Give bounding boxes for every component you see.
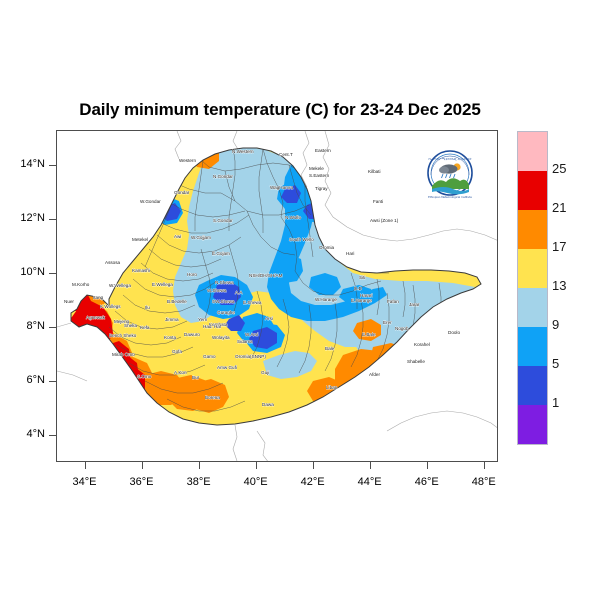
zone-label: Gamo xyxy=(203,354,216,359)
zone-label: Fanti xyxy=(373,199,383,204)
colorbar-tick-label: 25 xyxy=(552,161,566,176)
zone-label: W.Gojjam xyxy=(191,235,211,240)
zone-label: E.Gojam xyxy=(212,251,230,256)
colorbar-band xyxy=(518,210,547,249)
y-tick-label: 12°N xyxy=(1,212,45,224)
x-tick-label: 36°E xyxy=(119,476,165,488)
zone-label: WagHamra xyxy=(270,185,294,190)
y-tick-label: 4°N xyxy=(1,428,45,440)
zone-label: Konta xyxy=(164,335,176,340)
zone-label: Cent.T xyxy=(279,152,293,157)
zone-label: B.Bedelle xyxy=(167,299,187,304)
zone-label: Kilbati xyxy=(368,169,381,174)
zone-label: N.Gondar xyxy=(213,174,233,179)
zone-label: Doolo xyxy=(448,330,460,335)
zone-label: S.Omo xyxy=(137,374,152,379)
zone-label: Erer xyxy=(383,320,392,325)
zone-label: Yem xyxy=(198,317,207,322)
zone-label: A.A xyxy=(235,290,243,295)
zone-label: Korahel xyxy=(414,342,430,347)
zone-label: SW.Shewa xyxy=(212,299,235,304)
zone-label: Harari xyxy=(360,293,373,298)
colorbar-band xyxy=(518,171,547,210)
colorbar-tick-label: 13 xyxy=(552,278,566,293)
zone-label: W.Hararge xyxy=(315,297,337,302)
colorbar-band xyxy=(518,249,547,288)
zone-label: Oromia xyxy=(319,245,335,250)
zone-label: Agnewak xyxy=(86,315,106,320)
zone-label: Metekel xyxy=(132,237,148,242)
zone-label: Horo xyxy=(187,272,197,277)
zone-label: N.Wollo xyxy=(285,215,301,220)
y-tick-label: 14°N xyxy=(1,158,45,170)
x-tick-label: 40°E xyxy=(233,476,279,488)
svg-text:የኢትዮጵያ ሚቲዎሮሎጂ ኢንስቲትዩት: የኢትዮጵያ ሚቲዎሮሎጂ ኢንስቲትዩት xyxy=(428,157,472,161)
y-tick-label: 8°N xyxy=(1,320,45,332)
zone-label: Fafan xyxy=(387,299,399,304)
zone-label: W.Gondar xyxy=(140,199,161,204)
zone-label: Shabelle xyxy=(407,359,425,364)
zone-label: South Wello xyxy=(289,237,314,242)
zone-label: Nogob xyxy=(395,326,409,331)
zone-label: Assosa xyxy=(105,260,121,265)
zone-label: M.Korho xyxy=(72,282,90,287)
zone-label: Bale xyxy=(325,346,335,351)
zone-label: W.Arsi xyxy=(245,332,258,337)
colorbar-band xyxy=(518,132,547,171)
zone-label: Arsi xyxy=(265,316,273,321)
zone-label: Bur xyxy=(192,375,200,380)
zone-label: A.Kon xyxy=(174,370,187,375)
x-tick-label: 38°E xyxy=(176,476,222,488)
x-tick-mark xyxy=(484,462,485,469)
x-tick-label: 46°E xyxy=(404,476,450,488)
x-tick-mark xyxy=(199,462,200,469)
page-title: Daily minimum temperature (C) for 23-24 … xyxy=(0,100,560,120)
ethiopian-meteorological-institute-logo: የኢትዮጵያ ሚቲዎሮሎጂ ኢንስቲትዩት Ethiopian Meteorol… xyxy=(419,148,481,202)
zone-label: N.Shewa xyxy=(215,280,234,285)
zone-label: Gofa xyxy=(172,349,182,354)
x-tick-mark xyxy=(85,462,86,469)
zone-label: Gondar xyxy=(174,190,190,195)
colorbar-tick-label: 21 xyxy=(552,200,566,215)
zone-label: Siti xyxy=(359,275,365,280)
zone-label: Jarar xyxy=(409,302,420,307)
zone-label: S.Eastern xyxy=(309,173,330,178)
zone-label: Tigray xyxy=(315,186,328,191)
zone-label: Awi xyxy=(174,234,181,239)
colorbar-tick-label: 1 xyxy=(552,395,559,410)
y-tick-mark xyxy=(49,219,56,220)
zone-label: E.Bale xyxy=(362,332,376,337)
x-tick-mark xyxy=(370,462,371,469)
zone-label: Hari xyxy=(346,251,354,256)
zone-label: Guji xyxy=(261,370,269,375)
colorbar[interactable] xyxy=(517,131,548,445)
zone-label: Sheka xyxy=(124,323,137,328)
zone-label: Dawuro xyxy=(184,332,200,337)
x-tick-mark xyxy=(142,462,143,469)
zone-label: D.D xyxy=(354,286,363,291)
zone-label: W.Wellega xyxy=(109,283,131,288)
zone-label: W.Shewa xyxy=(207,288,227,293)
zone-label: Kamashi xyxy=(132,268,150,273)
x-tick-mark xyxy=(427,462,428,469)
zone-label: Bench Sheko xyxy=(109,333,137,338)
y-tick-mark xyxy=(49,327,56,328)
zone-label: E.Wellega xyxy=(152,282,173,287)
zone-label: Kefa xyxy=(140,325,150,330)
colorbar-band xyxy=(518,288,547,327)
y-tick-label: 6°N xyxy=(1,374,45,386)
zone-label: Western xyxy=(179,158,196,163)
zone-label: Amw Gufi xyxy=(217,365,237,370)
zone-label: NSH/DH/SH/AM xyxy=(249,273,283,278)
zone-label: Oromia(SNNP) xyxy=(235,354,266,359)
y-tick-mark xyxy=(49,435,56,436)
colorbar-band xyxy=(518,327,547,366)
x-tick-label: 42°E xyxy=(290,476,336,488)
svg-text:Ethiopian Meteorological Insti: Ethiopian Meteorological Institute xyxy=(428,195,472,199)
zone-label: Nuer xyxy=(64,299,74,304)
x-tick-mark xyxy=(256,462,257,469)
zone-label: S.Gondar xyxy=(213,218,233,223)
zone-label: Itang xyxy=(93,295,104,300)
x-tick-mark xyxy=(313,462,314,469)
zone-label: Guraghe xyxy=(217,310,235,315)
zone-label: Dawa xyxy=(262,402,274,407)
zone-label: Jimma xyxy=(165,317,179,322)
y-tick-mark xyxy=(49,381,56,382)
zone-label: Borena xyxy=(205,395,220,400)
zone-label: E.Hararge xyxy=(351,298,372,303)
zone-label: E.Shewa xyxy=(243,300,262,305)
x-tick-label: 34°E xyxy=(62,476,108,488)
colorbar-band xyxy=(518,366,547,405)
zone-label: Awsi (Zone 1) xyxy=(370,218,399,223)
zone-label: Mirab Omo xyxy=(112,352,135,357)
zone-label: Eastern xyxy=(315,148,331,153)
zone-label: Ilu xyxy=(145,305,150,310)
x-tick-label: 48°E xyxy=(461,476,507,488)
zone-label: Mekele xyxy=(309,166,324,171)
colorbar-tick-label: 9 xyxy=(552,317,559,332)
x-tick-label: 44°E xyxy=(347,476,393,488)
zone-label: Had. Haf xyxy=(203,324,222,329)
colorbar-band xyxy=(518,405,547,444)
zone-label: Sidama xyxy=(237,339,253,344)
zone-label: Liban xyxy=(326,385,338,390)
y-tick-label: 10°N xyxy=(1,266,45,278)
zone-label: Wolayita xyxy=(212,335,230,340)
colorbar-tick-label: 17 xyxy=(552,239,566,254)
zone-label: K.Wollegs xyxy=(100,304,121,309)
y-tick-mark xyxy=(49,165,56,166)
colorbar-tick-label: 5 xyxy=(552,356,559,371)
y-tick-mark xyxy=(49,273,56,274)
zone-label: N.Western xyxy=(232,149,254,154)
zone-label: Afder xyxy=(369,372,380,377)
